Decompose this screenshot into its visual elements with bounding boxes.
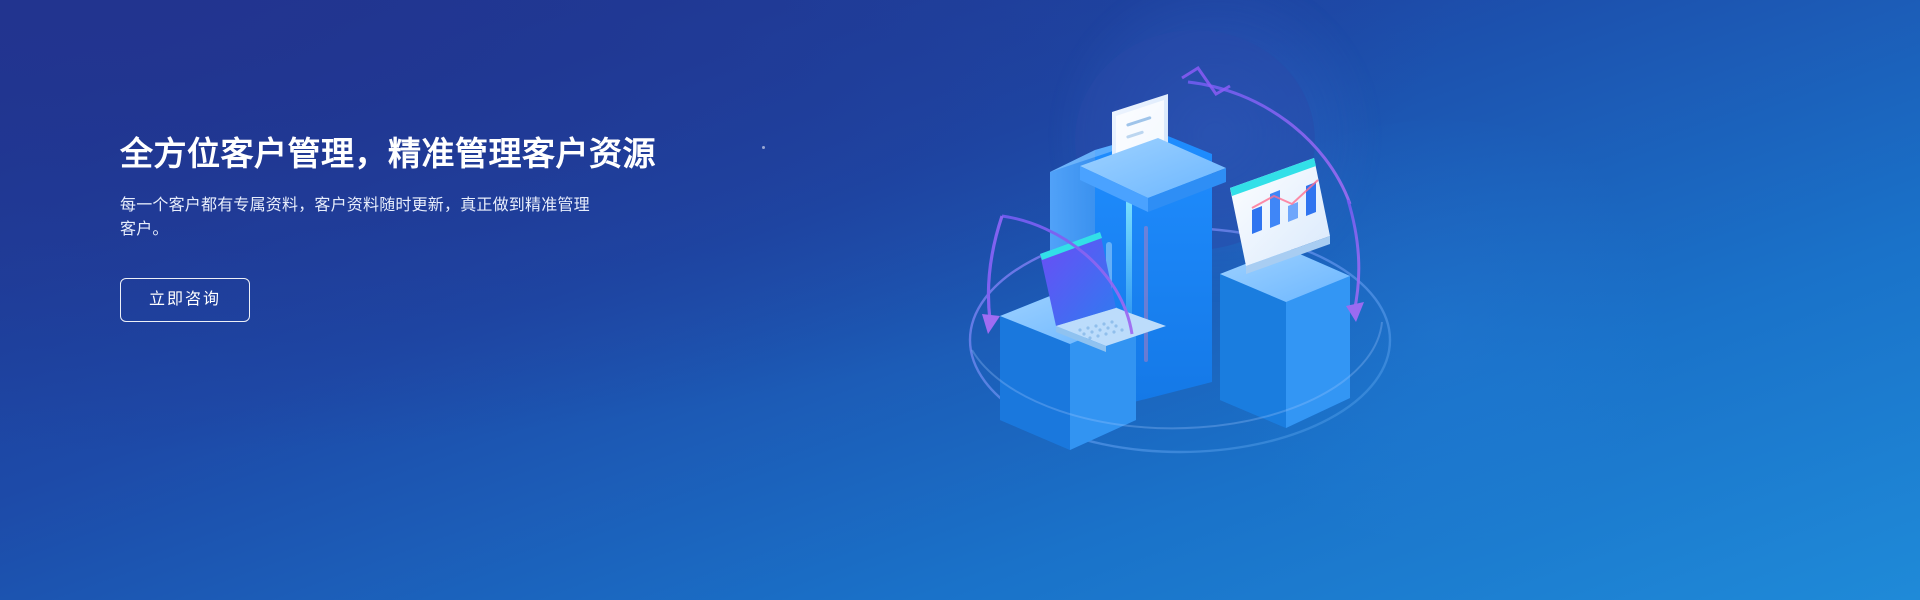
background-sparkle-dot — [762, 146, 765, 149]
pedestal-right — [1220, 248, 1350, 428]
hero-illustration — [930, 20, 1450, 580]
consult-now-button[interactable]: 立即咨询 — [120, 278, 250, 322]
page-title: 全方位客户管理，精准管理客户资源 — [120, 132, 760, 176]
hero-banner: 全方位客户管理，精准管理客户资源 每一个客户都有专属资料，客户资料随时更新，真正… — [0, 0, 1920, 600]
cta-row: 立即咨询 — [120, 278, 760, 322]
hero-copy-block: 全方位客户管理，精准管理客户资源 每一个客户都有专属资料，客户资料随时更新，真正… — [120, 132, 760, 322]
hero-subtitle: 每一个客户都有专属资料，客户资料随时更新，真正做到精准管理客户。 — [120, 194, 604, 242]
